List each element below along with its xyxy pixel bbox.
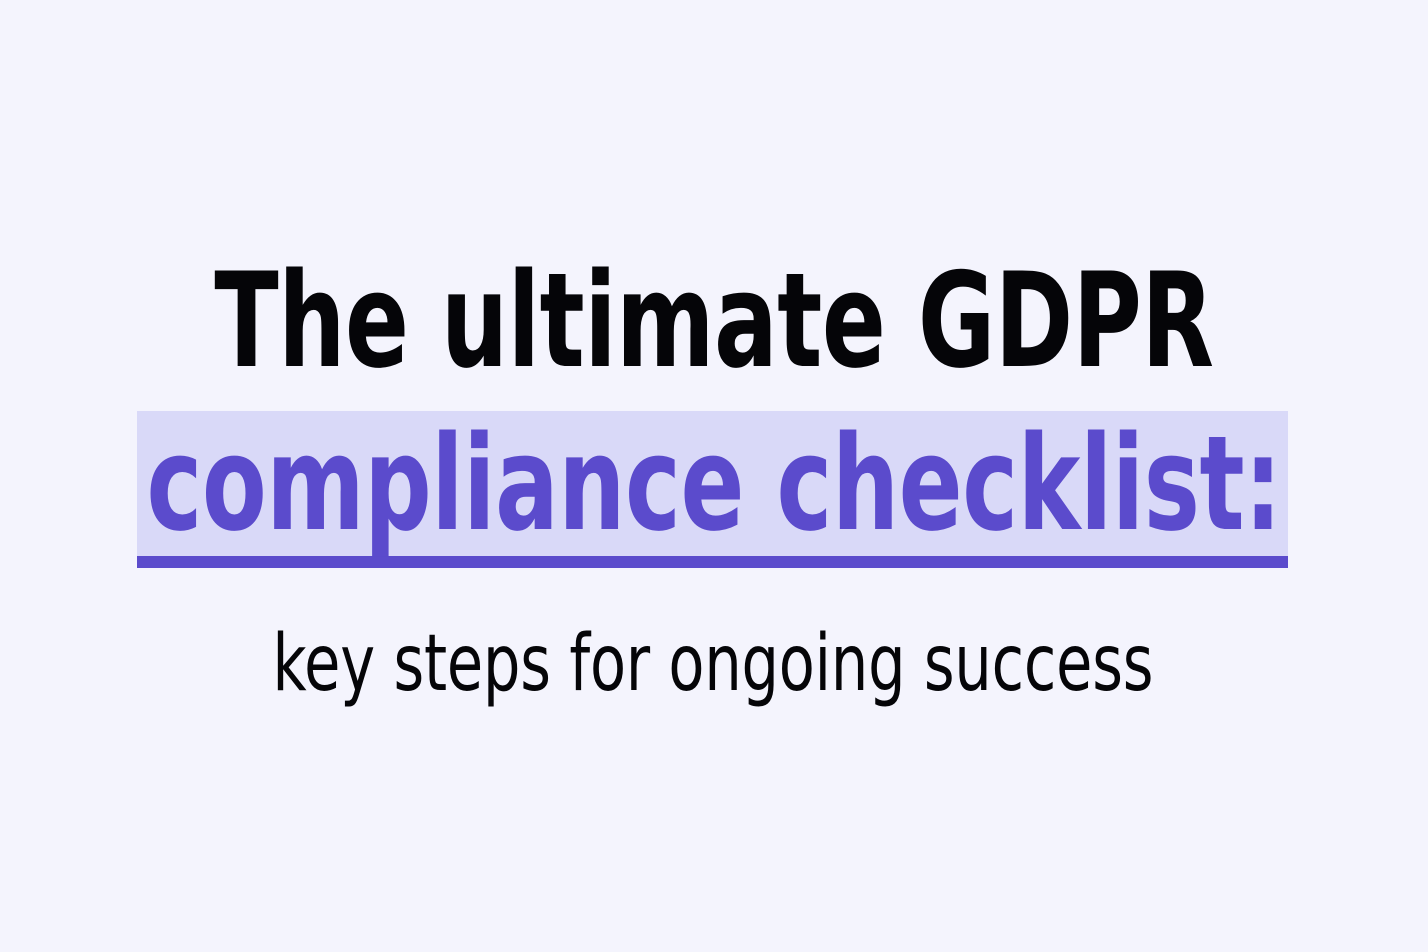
subtitle: key steps for ongoing success bbox=[113, 624, 1313, 704]
title-block: The ultimate GDPR compliance checklist: … bbox=[0, 0, 1428, 952]
title-card-slide: The ultimate GDPR compliance checklist: … bbox=[0, 0, 1428, 952]
headline-line-1: The ultimate GDPR bbox=[143, 255, 1285, 386]
headline-line-2: compliance checklist: bbox=[143, 411, 1285, 556]
headline-line-2-group: compliance checklist: bbox=[0, 411, 1428, 568]
